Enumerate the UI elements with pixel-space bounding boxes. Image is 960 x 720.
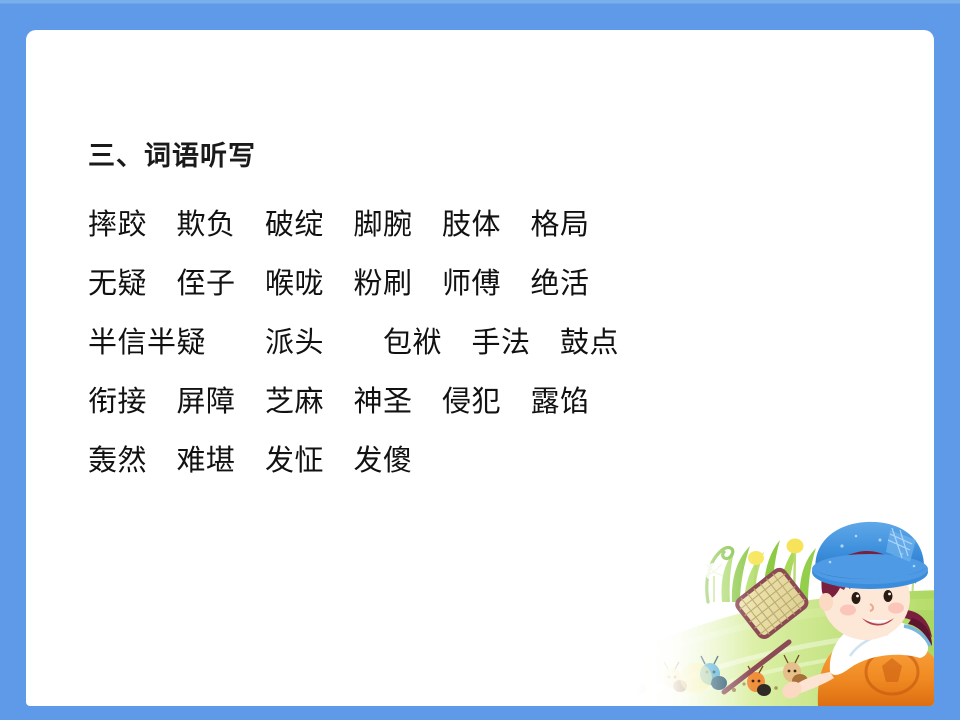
grass-blades-icon: [707, 540, 891, 604]
ants-row-icon: [624, 655, 808, 696]
word-line-1: 摔跤 欺负 破绽 脚腕 肢体 格局: [88, 196, 788, 255]
word-line-2: 无疑 侄子 喉咙 粉刷 师傅 绝活: [88, 255, 788, 314]
word-line-3: 半信半疑 派头 包袱 手法 鼓点: [88, 314, 788, 373]
page-title: 三、词语听写: [88, 140, 788, 174]
girl-character-icon: [724, 522, 934, 706]
content-area: 三、词语听写 摔跤 欺负 破绽 脚腕 肢体 格局 无疑 侄子 喉咙 粉刷 师傅 …: [88, 140, 788, 491]
word-line-5: 轰然 难堪 发怔 发傻: [88, 432, 788, 491]
word-line-4: 衔接 屏障 芝麻 神圣 侵犯 露馅: [88, 373, 788, 432]
slide-white-panel: 三、词语听写 摔跤 欺负 破绽 脚腕 肢体 格局 无疑 侄子 喉咙 粉刷 师傅 …: [26, 30, 934, 706]
illustration-fade-mask: [604, 506, 754, 706]
decorative-illustration: [604, 506, 934, 706]
grass-hill: [604, 590, 934, 706]
slide-canvas: 三、词语听写 摔跤 欺负 破绽 脚腕 肢体 格局 无疑 侄子 喉咙 粉刷 师傅 …: [0, 0, 960, 720]
dandelion-icon: [705, 539, 921, 603]
